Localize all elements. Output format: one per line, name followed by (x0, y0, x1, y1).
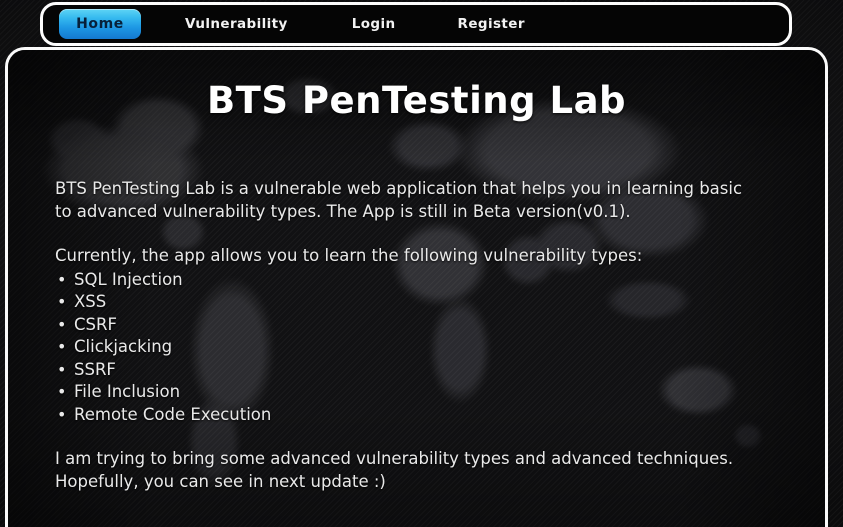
body-text-block: BTS PenTesting Lab is a vulnerable web a… (8, 178, 825, 493)
nav-item-login[interactable]: Login (352, 16, 396, 32)
page-title: BTS PenTesting Lab (8, 79, 825, 122)
outro-paragraph: I am trying to bring some advanced vulne… (55, 448, 755, 493)
list-item: SSRF (55, 359, 785, 382)
nav-item-register[interactable]: Register (458, 16, 525, 32)
nav-item-vulnerability[interactable]: Vulnerability (185, 16, 288, 32)
nav-item-home[interactable]: Home (59, 9, 141, 39)
content-inner: BTS PenTesting Lab BTS PenTesting Lab is… (8, 79, 825, 493)
list-item: File Inclusion (55, 381, 785, 404)
vulnerability-list-lead-line: Currently, the app allows you to learn t… (55, 245, 785, 268)
list-item: SQL Injection (55, 269, 785, 292)
list-item: CSRF (55, 314, 785, 337)
list-item: Clickjacking (55, 336, 785, 359)
list-item: XSS (55, 291, 785, 314)
main-navigation-bar: Home Vulnerability Login Register (40, 2, 792, 46)
vulnerability-type-list: SQL Injection XSS CSRF Clickjacking SSRF… (55, 269, 785, 427)
main-content-panel: BTS PenTesting Lab BTS PenTesting Lab is… (5, 47, 828, 527)
intro-paragraph: BTS PenTesting Lab is a vulnerable web a… (55, 178, 745, 223)
list-item: Remote Code Execution (55, 404, 785, 427)
